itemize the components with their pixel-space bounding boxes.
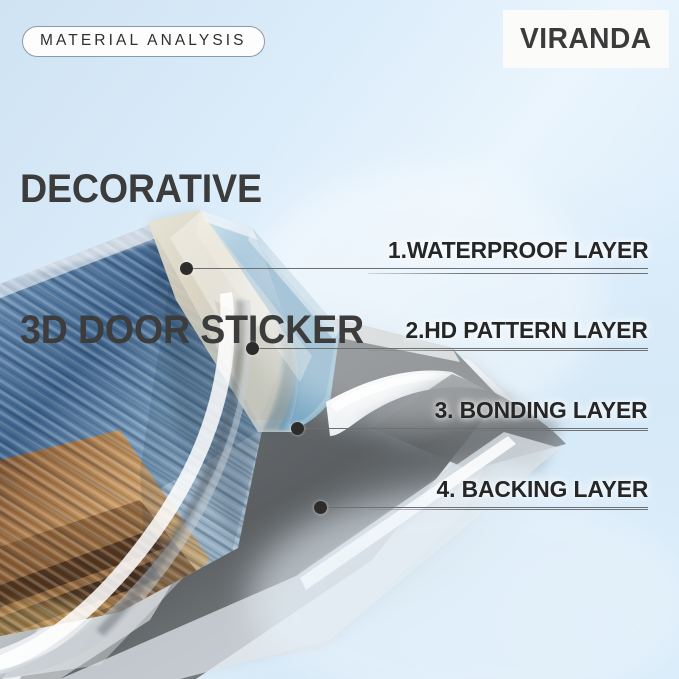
callout-leader-line-2: [252, 348, 648, 349]
callout-underline-4: [368, 509, 648, 510]
callout-dot-2: [246, 342, 259, 355]
callout-leader-line-1: [186, 268, 648, 269]
page-title: DECORATIVE 3D DOOR STICKER: [20, 72, 364, 448]
callout-dot-3: [291, 422, 304, 435]
page-title-line-1: DECORATIVE: [20, 166, 364, 213]
callout-dot-1: [180, 262, 193, 275]
page-title-line-2: 3D DOOR STICKER: [20, 307, 364, 354]
callout-dot-4: [314, 501, 327, 514]
callout-underline-3: [368, 430, 648, 431]
callout-underline-1: [368, 273, 648, 274]
material-analysis-infographic: MATERIAL ANALYSIS VIRANDA DECORATIVE 3D …: [0, 0, 679, 679]
callout-label-3: 3. BONDING LAYER: [435, 397, 648, 424]
callout-underline-2: [368, 350, 648, 351]
brand-name: VIRANDA: [520, 23, 652, 56]
callout-leader-line-4: [320, 507, 648, 508]
callout-leader-line-3: [297, 428, 648, 429]
callout-label-4: 4. BACKING LAYER: [436, 476, 648, 503]
brand-logo-box: VIRANDA: [503, 10, 669, 68]
callout-label-1: 1.WATERPROOF LAYER: [388, 237, 648, 264]
material-analysis-badge: MATERIAL ANALYSIS: [22, 26, 265, 57]
callout-label-2: 2.HD PATTERN LAYER: [406, 317, 648, 344]
